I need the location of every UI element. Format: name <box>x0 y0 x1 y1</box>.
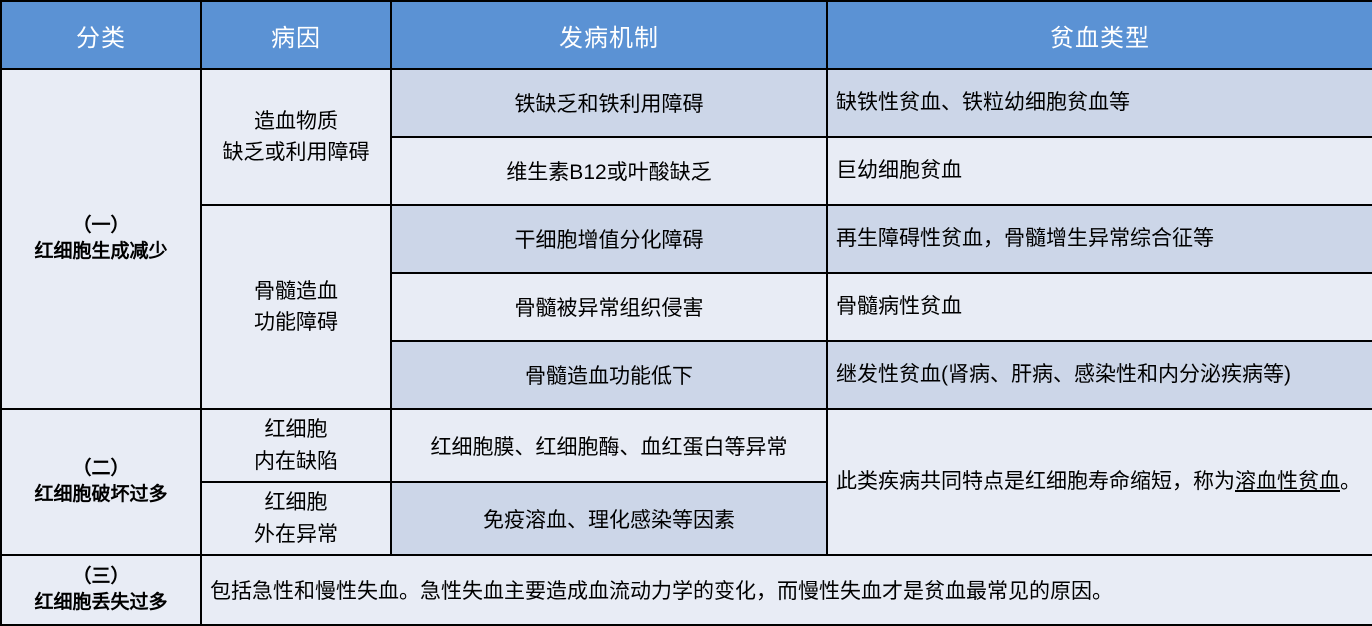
table-header: 分类 病因 发病机制 贫血类型 <box>1 1 1372 69</box>
cause-line-2: 缺乏或利用障碍 <box>210 137 382 169</box>
mechanism-cell: 骨髓造血功能低下 <box>391 341 827 409</box>
table-row: （二） 红细胞破坏过多 红细胞 内在缺陷 红细胞膜、红细胞酶、血红蛋白等异常 此… <box>1 409 1372 482</box>
category-number: （一） <box>10 213 192 239</box>
table-row: 骨髓造血 功能障碍 干细胞增值分化障碍 再生障碍性贫血，骨髓增生异常综合征等 <box>1 205 1372 273</box>
category-cell-2: （二） 红细胞破坏过多 <box>1 409 201 555</box>
cause-line-2: 功能障碍 <box>210 307 382 339</box>
category-number: （三） <box>10 564 192 590</box>
cause-line-1: 红细胞 <box>210 414 382 446</box>
anemia-type-cell: 骨髓病性贫血 <box>827 273 1372 341</box>
category-number: （二） <box>10 456 192 482</box>
category-cell-3: （三） 红细胞丢失过多 <box>1 555 201 625</box>
cause-line-2: 外在异常 <box>210 519 382 551</box>
category-name: 红细胞破坏过多 <box>10 482 192 508</box>
mechanism-cell: 红细胞膜、红细胞酶、血红蛋白等异常 <box>391 409 827 482</box>
anemia-type-cell: 再生障碍性贫血，骨髓增生异常综合征等 <box>827 205 1372 273</box>
table-row: （一） 红细胞生成减少 造血物质 缺乏或利用障碍 铁缺乏和铁利用障碍 缺铁性贫血… <box>1 69 1372 137</box>
cause-line-2: 内在缺陷 <box>210 446 382 478</box>
hemolysis-note-part3: 。 <box>1340 470 1361 493</box>
category-name: 红细胞生成减少 <box>10 239 192 265</box>
category-cell-1: （一） 红细胞生成减少 <box>1 69 201 409</box>
anemia-type-cell: 继发性贫血(肾病、肝病、感染性和内分泌疾病等) <box>827 341 1372 409</box>
cause-cell-4: 红细胞 外在异常 <box>201 482 391 555</box>
cause-cell-2: 骨髓造血 功能障碍 <box>201 205 391 409</box>
hemolysis-note-part1: 此类疾病共同特点是红细胞寿命缩短，称为 <box>836 470 1235 493</box>
cause-line-1: 造血物质 <box>210 106 382 138</box>
mechanism-cell: 铁缺乏和铁利用障碍 <box>391 69 827 137</box>
mechanism-cell: 维生素B12或叶酸缺乏 <box>391 137 827 205</box>
anemia-type-cell: 巨幼细胞贫血 <box>827 137 1372 205</box>
mechanism-cell: 骨髓被异常组织侵害 <box>391 273 827 341</box>
cause-cell-3: 红细胞 内在缺陷 <box>201 409 391 482</box>
hemolysis-note-underlined: 溶血性贫血 <box>1235 470 1340 493</box>
table-body: （一） 红细胞生成减少 造血物质 缺乏或利用障碍 铁缺乏和铁利用障碍 缺铁性贫血… <box>1 69 1372 625</box>
table-row: （三） 红细胞丢失过多 包括急性和慢性失血。急性失血主要造成血流动力学的变化，而… <box>1 555 1372 625</box>
blood-loss-note-cell: 包括急性和慢性失血。急性失血主要造成血流动力学的变化，而慢性失血才是贫血最常见的… <box>201 555 1372 625</box>
cause-cell-1: 造血物质 缺乏或利用障碍 <box>201 69 391 205</box>
hemolysis-note-cell: 此类疾病共同特点是红细胞寿命缩短，称为溶血性贫血。 <box>827 409 1372 555</box>
header-cell-cause: 病因 <box>201 1 391 69</box>
anemia-type-cell: 缺铁性贫血、铁粒幼细胞贫血等 <box>827 69 1372 137</box>
anemia-classification-table: 分类 病因 发病机制 贫血类型 （一） 红细胞生成减少 造血物质 缺乏或利用障碍… <box>0 0 1372 626</box>
cause-line-1: 红细胞 <box>210 487 382 519</box>
header-cell-anemia-type: 贫血类型 <box>827 1 1372 69</box>
header-cell-mechanism: 发病机制 <box>391 1 827 69</box>
category-name: 红细胞丢失过多 <box>10 590 192 616</box>
anemia-classification-table-container: 分类 病因 发病机制 贫血类型 （一） 红细胞生成减少 造血物质 缺乏或利用障碍… <box>0 0 1372 614</box>
cause-line-1: 骨髓造血 <box>210 276 382 308</box>
header-cell-classification: 分类 <box>1 1 201 69</box>
mechanism-cell: 干细胞增值分化障碍 <box>391 205 827 273</box>
mechanism-cell: 免疫溶血、理化感染等因素 <box>391 482 827 555</box>
header-row: 分类 病因 发病机制 贫血类型 <box>1 1 1372 69</box>
